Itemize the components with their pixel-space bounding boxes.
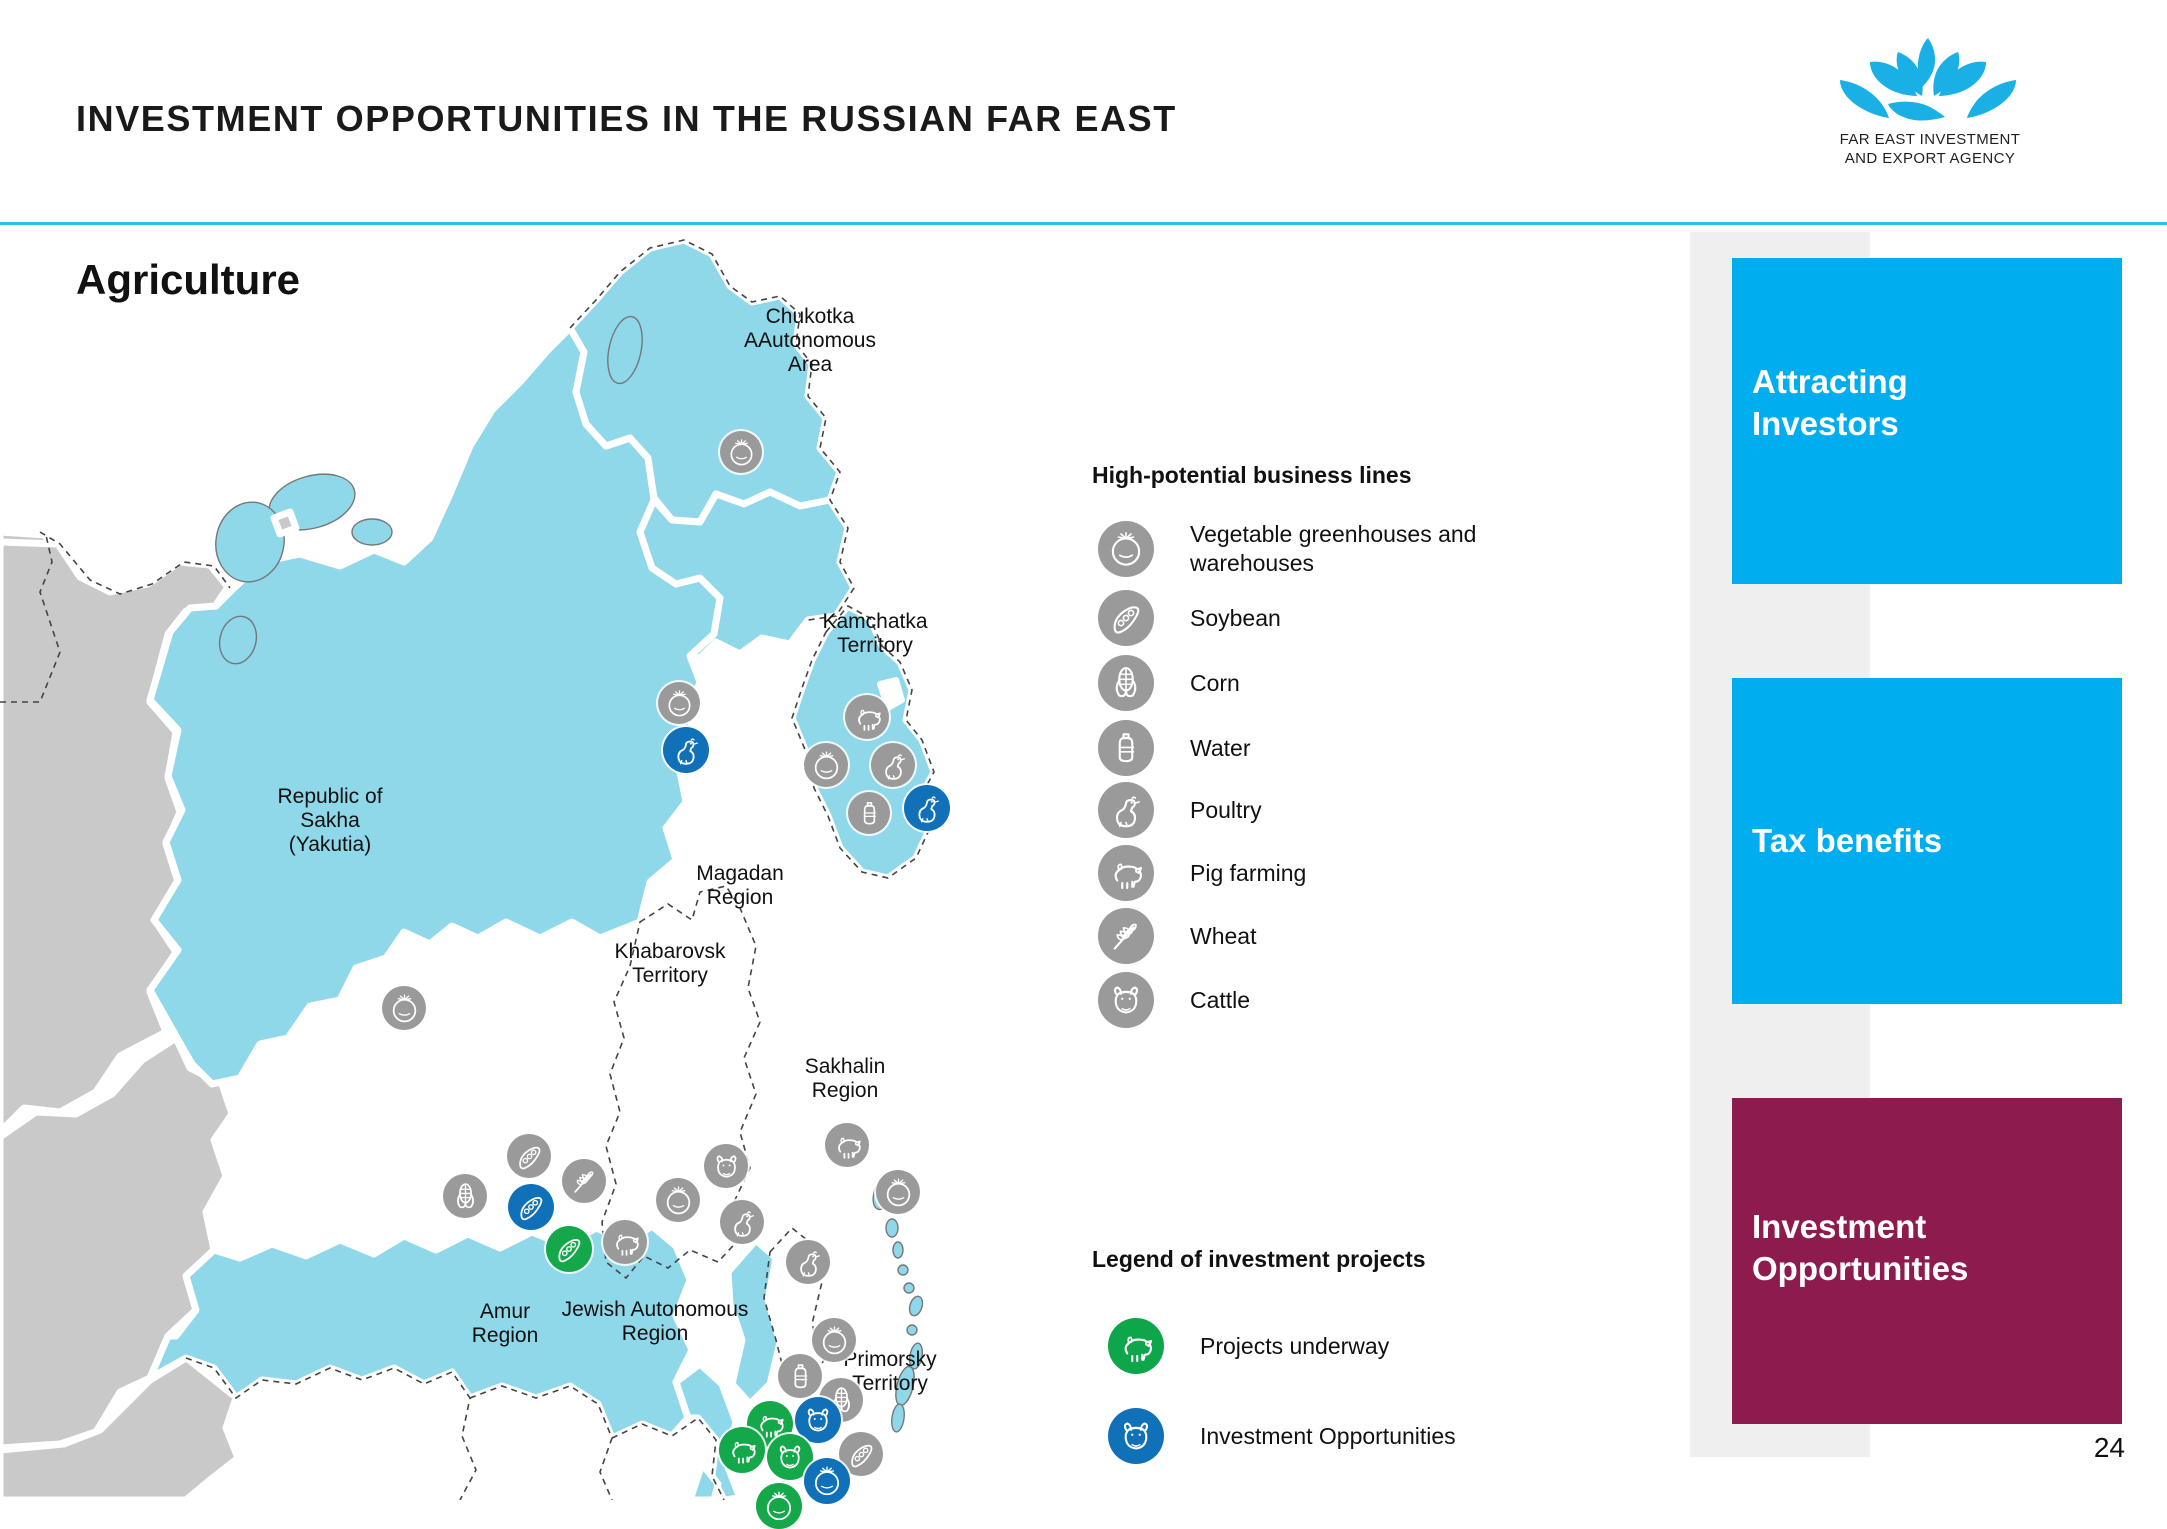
business-line-label: Soybean bbox=[1190, 604, 1281, 633]
projects-legend-item-green[interactable]: Projects underway bbox=[1108, 1318, 1389, 1374]
map-pin-wheat-gray[interactable] bbox=[562, 1159, 606, 1203]
slide: INVESTMENT OPPORTUNITIES IN THE RUSSIAN … bbox=[0, 0, 2167, 1500]
rail-card-attracting-investors[interactable]: Attracting Investors bbox=[1732, 258, 2122, 584]
map-pin-tomato-gray[interactable] bbox=[656, 1178, 700, 1222]
map-pin-pig-gray[interactable] bbox=[845, 695, 889, 739]
map-pin-water-gray[interactable] bbox=[848, 792, 890, 834]
rail-card-tax-benefits[interactable]: Tax benefits bbox=[1732, 678, 2122, 1004]
map-pin-tomato-gray[interactable] bbox=[658, 682, 700, 724]
map-pin-soybean-gray[interactable] bbox=[507, 1134, 551, 1178]
map-label-sakhalin: Sakhalin Region bbox=[735, 1055, 955, 1103]
map-label-sakha: Republic of Sakha (Yakutia) bbox=[220, 785, 440, 857]
corn-icon bbox=[1098, 655, 1154, 711]
business-line-label: Poultry bbox=[1190, 796, 1262, 825]
business-line-label: Pig farming bbox=[1190, 859, 1306, 888]
page-title: INVESTMENT OPPORTUNITIES IN THE RUSSIAN … bbox=[76, 98, 1177, 140]
business-line-item-poultry[interactable]: Poultry bbox=[1098, 782, 1262, 838]
pig-icon bbox=[1098, 845, 1154, 901]
map-pin-poultry-blue[interactable] bbox=[663, 727, 709, 773]
rail-card-investment-opportunities-label: Investment Opportunities bbox=[1752, 1206, 1968, 1290]
cattle-icon bbox=[1108, 1408, 1164, 1464]
projects-legend-heading: Legend of investment projects bbox=[1092, 1246, 1426, 1273]
business-line-item-pig[interactable]: Pig farming bbox=[1098, 845, 1306, 901]
lotus-flower-icon bbox=[1828, 34, 2028, 126]
business-line-label: Vegetable greenhouses and warehouses bbox=[1190, 520, 1490, 578]
map-pin-tomato-gray[interactable] bbox=[804, 743, 848, 787]
vegetable-greenhouse-icon bbox=[1098, 521, 1154, 577]
business-line-label: Cattle bbox=[1190, 986, 1250, 1015]
map-pin-tomato-blue[interactable] bbox=[804, 1458, 850, 1504]
logo-text: FAR EAST INVESTMENT AND EXPORT AGENCY bbox=[1810, 130, 2050, 168]
projects-legend-label: Projects underway bbox=[1200, 1332, 1389, 1361]
organization-logo: FAR EAST INVESTMENT AND EXPORT AGENCY bbox=[1810, 34, 2050, 174]
business-line-item-corn[interactable]: Corn bbox=[1098, 655, 1240, 711]
rail-card-investment-opportunities[interactable]: Investment Opportunities bbox=[1732, 1098, 2122, 1424]
business-line-item-tomato[interactable]: Vegetable greenhouses and warehouses bbox=[1098, 520, 1490, 578]
map-pin-cattle-gray[interactable] bbox=[704, 1144, 748, 1188]
poultry-icon bbox=[1098, 782, 1154, 838]
map-pin-pig-gray[interactable] bbox=[603, 1220, 647, 1264]
map-pin-water-gray[interactable] bbox=[778, 1354, 822, 1398]
projects-legend-item-blue[interactable]: Investment Opportunities bbox=[1108, 1408, 1456, 1464]
business-line-label: Corn bbox=[1190, 669, 1240, 698]
map-pin-poultry-gray[interactable] bbox=[786, 1240, 830, 1284]
map-pin-tomato-gray[interactable] bbox=[812, 1318, 856, 1362]
map-pin-soybean-green[interactable] bbox=[546, 1226, 592, 1272]
business-line-item-cattle[interactable]: Cattle bbox=[1098, 972, 1250, 1028]
logo-line-2: AND EXPORT AGENCY bbox=[1810, 149, 2050, 168]
map-pin-cattle-blue[interactable] bbox=[795, 1397, 841, 1443]
map-pin-corn-gray[interactable] bbox=[443, 1174, 487, 1218]
map-label-chukotka: Chukotka AAutonomous Area bbox=[700, 305, 920, 377]
page-number: 24 bbox=[2094, 1432, 2125, 1464]
soybean-icon bbox=[1098, 590, 1154, 646]
map-pin-pig-green[interactable] bbox=[719, 1427, 765, 1473]
logo-line-1: FAR EAST INVESTMENT bbox=[1810, 130, 2050, 149]
business-line-item-wheat[interactable]: Wheat bbox=[1098, 908, 1256, 964]
map-pin-pig-gray[interactable] bbox=[825, 1123, 869, 1167]
business-line-label: Water bbox=[1190, 734, 1251, 763]
business-line-item-soybean[interactable]: Soybean bbox=[1098, 590, 1281, 646]
map-pin-poultry-gray[interactable] bbox=[871, 743, 915, 787]
projects-legend-label: Investment Opportunities bbox=[1200, 1422, 1456, 1451]
water-bottle-icon bbox=[1098, 720, 1154, 776]
map-pin-poultry-blue[interactable] bbox=[904, 785, 950, 831]
map-pin-poultry-gray[interactable] bbox=[720, 1200, 764, 1244]
wheat-icon bbox=[1098, 908, 1154, 964]
cattle-icon bbox=[1098, 972, 1154, 1028]
rail-card-attracting-investors-label: Attracting Investors bbox=[1752, 361, 1908, 445]
business-line-label: Wheat bbox=[1190, 922, 1256, 951]
business-lines-heading: High-potential business lines bbox=[1092, 462, 1411, 489]
map-pin-tomato-gray[interactable] bbox=[720, 431, 762, 473]
map-pin-soybean-blue[interactable] bbox=[508, 1184, 554, 1230]
rail-card-tax-benefits-label: Tax benefits bbox=[1752, 820, 1942, 862]
pig-icon bbox=[1108, 1318, 1164, 1374]
map-pin-tomato-green[interactable] bbox=[756, 1483, 802, 1529]
business-line-item-water[interactable]: Water bbox=[1098, 720, 1251, 776]
map-label-jewish: Jewish Autonomous Region bbox=[545, 1298, 765, 1346]
map-label-kamchatka: Kamchatka Territory bbox=[765, 610, 985, 658]
map-label-khabarovsk: Khabarovsk Territory bbox=[560, 940, 780, 988]
map-pin-tomato-gray[interactable] bbox=[382, 986, 426, 1030]
header-divider bbox=[0, 222, 2167, 225]
map-label-magadan: Magadan Region bbox=[630, 862, 850, 910]
map-pin-tomato-gray[interactable] bbox=[876, 1170, 920, 1214]
